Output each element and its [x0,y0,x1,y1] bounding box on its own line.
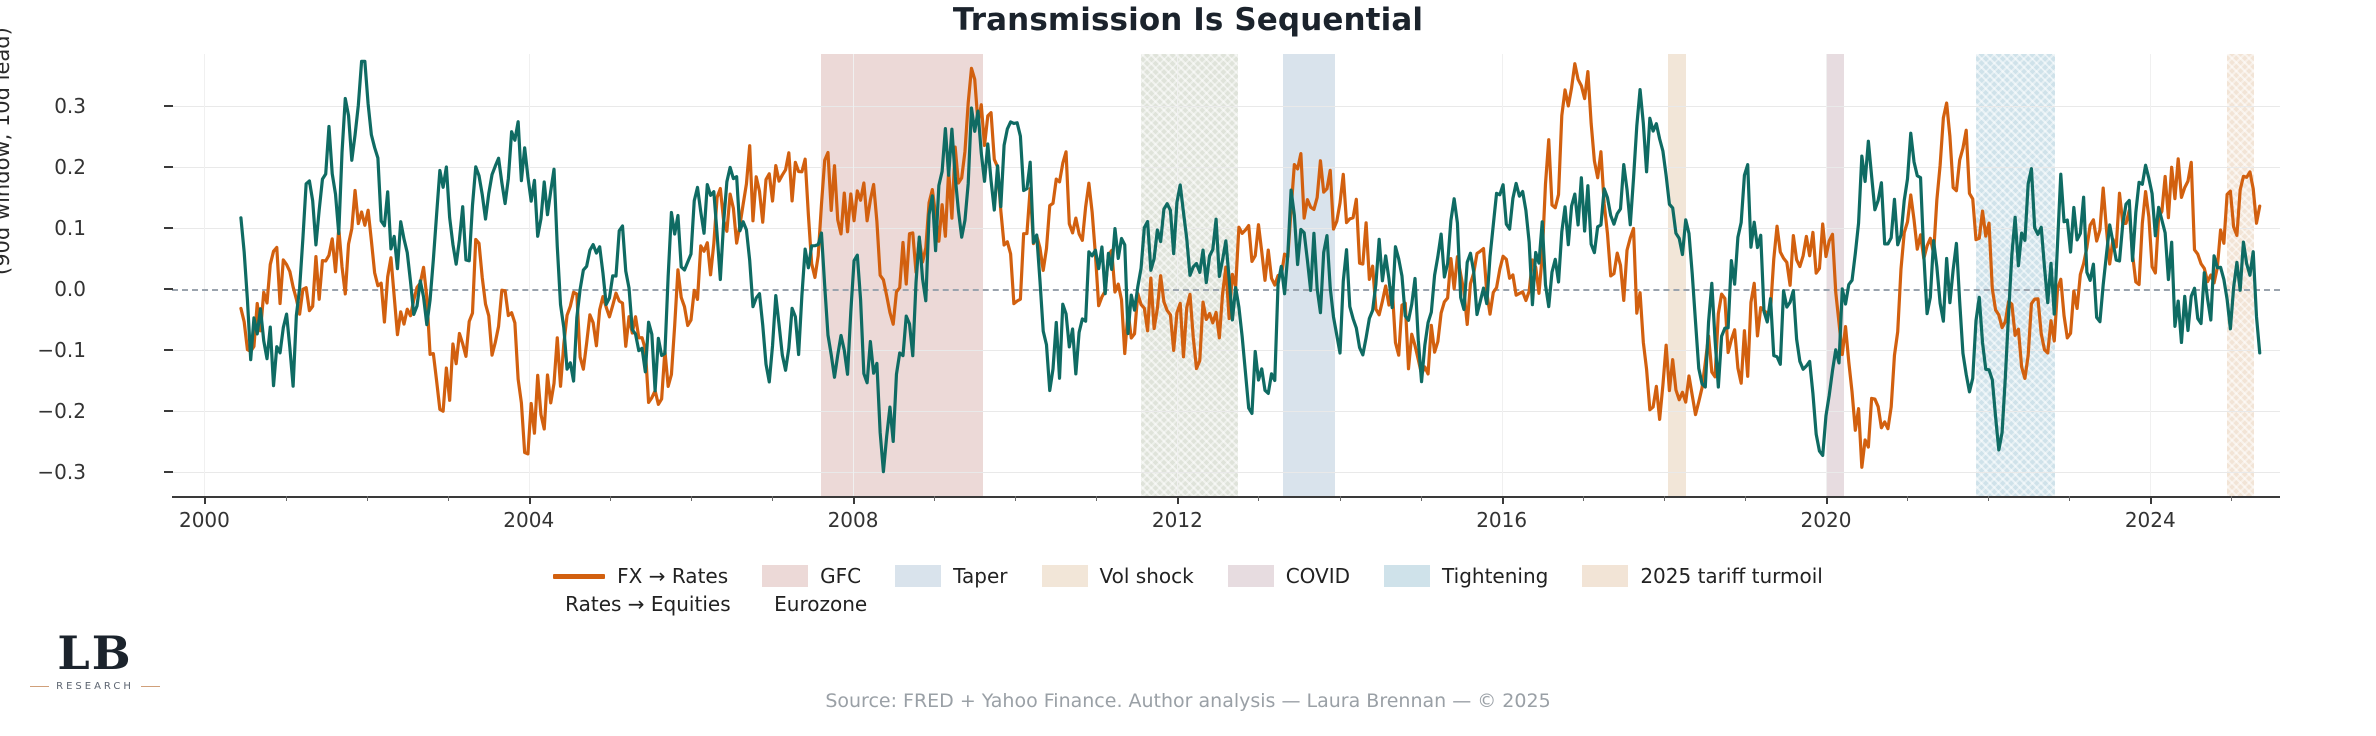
legend-item-gfc[interactable]: GFC [762,564,861,588]
legend-item-eurozone[interactable]: Eurozone [762,592,861,616]
legend-swatch-icon [1582,565,1628,587]
x-tick-mark-minor [1015,496,1016,501]
legend-label: FX → Rates [617,564,728,588]
legend-label: 2025 tariff turmoil [1640,564,1823,588]
y-tick-label: 0.2 [0,155,86,179]
x-tick-mark [1177,496,1179,504]
x-tick-mark-minor [1907,496,1908,501]
x-tick-mark-minor [286,496,287,501]
x-tick-label: 2008 [793,508,913,532]
chart-page: Transmission Is Sequential Lead–lag corr… [0,0,2376,736]
y-tick-mark [164,288,173,290]
legend-swatch-icon [1042,565,1088,587]
x-tick-mark-minor [691,496,692,501]
legend-label: Rates → Equities [565,592,730,616]
x-tick-label: 2000 [144,508,264,532]
x-tick-mark-minor [1421,496,1422,501]
legend-label: Vol shock [1100,564,1194,588]
y-tick-mark [164,471,173,473]
series-canvas [172,54,2280,496]
x-tick-mark-minor [1988,496,1989,501]
y-tick-label: 0.0 [0,277,86,301]
x-tick-mark-minor [1340,496,1341,501]
logo: LB RESEARCH [30,630,160,692]
y-tick-label: 0.3 [0,94,86,118]
legend-label: Eurozone [774,592,867,616]
plot-area [172,54,2280,496]
x-tick-mark [1826,496,1828,504]
page-title: Transmission Is Sequential [0,2,2376,38]
legend-label: COVID [1286,564,1350,588]
x-tick-mark-minor [1745,496,1746,501]
x-tick-mark-minor [367,496,368,501]
legend-item-fx-rates[interactable]: FX → Rates [553,564,728,588]
legend: FX → RatesGFCTaperVol shockCOVIDTighteni… [0,564,2376,616]
legend-item-covid[interactable]: COVID [1228,564,1350,588]
y-tick-mark [164,227,173,229]
legend-item-rates-equities[interactable]: Rates → Equities [553,592,728,616]
x-tick-mark-minor [2069,496,2070,501]
y-tick-mark [164,349,173,351]
y-tick-label: −0.2 [0,399,86,423]
legend-swatch-icon [895,565,941,587]
x-tick-label: 2024 [2090,508,2210,532]
x-tick-mark [529,496,531,504]
x-tick-mark-minor [610,496,611,501]
legend-swatch-icon [762,565,808,587]
x-tick-label: 2020 [1766,508,1886,532]
x-axis-spine [172,496,2280,498]
legend-line-icon [553,574,605,579]
legend-item-tightening[interactable]: Tightening [1384,564,1548,588]
logo-mark: LB [30,630,160,676]
x-tick-mark-minor [934,496,935,501]
series-line-rates-equities [241,61,2260,471]
x-tick-mark-minor [448,496,449,501]
x-tick-mark [1502,496,1504,504]
legend-item-vol-shock[interactable]: Vol shock [1042,564,1194,588]
source-footer: Source: FRED + Yahoo Finance. Author ana… [0,690,2376,712]
y-tick-mark [164,166,173,168]
logo-rule-right [141,686,160,687]
x-tick-mark-minor [1096,496,1097,501]
y-tick-mark [164,105,173,107]
legend-label: Taper [953,564,1007,588]
x-tick-label: 2016 [1442,508,1562,532]
x-tick-mark [853,496,855,504]
x-tick-label: 2004 [469,508,589,532]
legend-label: Tightening [1442,564,1548,588]
legend-swatch-icon [1384,565,1430,587]
legend-item-2025-tariff-turmoil[interactable]: 2025 tariff turmoil [1582,564,1823,588]
x-tick-mark-minor [1664,496,1665,501]
legend-row: Rates → EquitiesEurozone [553,592,895,616]
y-tick-label: −0.1 [0,338,86,362]
legend-row: FX → RatesGFCTaperVol shockCOVIDTighteni… [553,564,1823,588]
x-tick-mark [2150,496,2152,504]
legend-swatch-icon [1228,565,1274,587]
x-tick-mark [204,496,206,504]
legend-label: GFC [820,564,861,588]
plot-wrap [172,54,2280,496]
y-tick-label: 0.1 [0,216,86,240]
logo-rule-left [30,686,49,687]
y-tick-mark [164,410,173,412]
x-tick-mark-minor [1258,496,1259,501]
x-tick-label: 2012 [1117,508,1237,532]
y-tick-label: −0.3 [0,460,86,484]
x-tick-mark-minor [2231,496,2232,501]
x-tick-mark-minor [772,496,773,501]
legend-item-taper[interactable]: Taper [895,564,1007,588]
x-tick-mark-minor [1583,496,1584,501]
